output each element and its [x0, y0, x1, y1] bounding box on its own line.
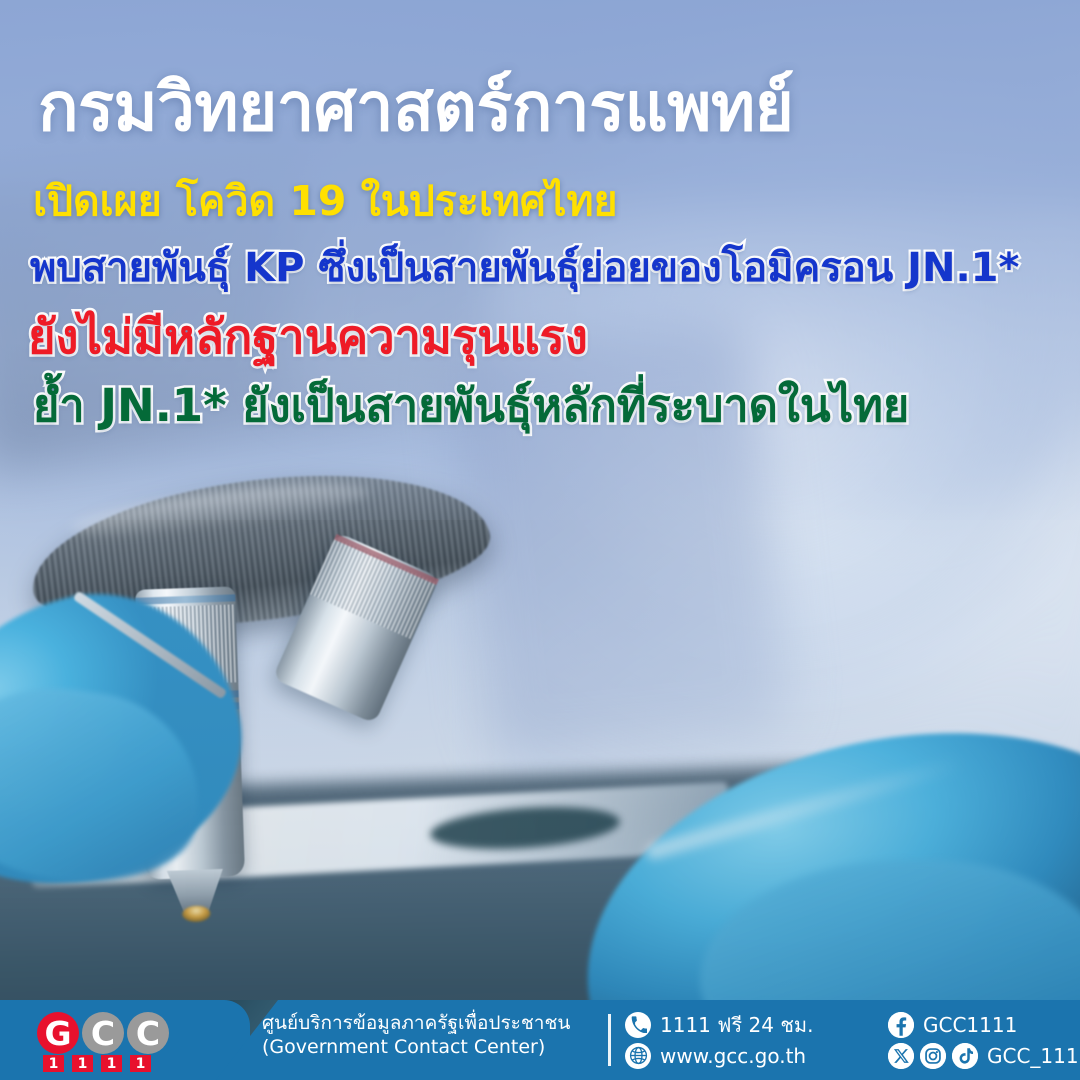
- footer-org-name-en: (Government Contact Center): [262, 1035, 592, 1059]
- footer-org-name: ศูนย์บริการข้อมูลภาครัฐเพื่อประชาชน (Gov…: [262, 1011, 592, 1060]
- phone-icon: [625, 1012, 651, 1038]
- facebook-icon[interactable]: [888, 1012, 914, 1038]
- gcc-digit-1a: 1: [43, 1055, 64, 1072]
- footer-facebook-row[interactable]: GCC1111: [888, 1009, 1078, 1040]
- headline-block: กรมวิทยาศาสตร์การแพทย์ เปิดเผย โควิด 19 …: [0, 0, 1080, 428]
- footer-facebook-handle: GCC1111: [923, 1013, 1017, 1037]
- footer-social-handles-row[interactable]: GCC_1111: [888, 1040, 1078, 1071]
- headline-line-blue: พบสายพันธุ์ KP ซึ่งเป็นสายพันธุ์ย่อยของโ…: [30, 248, 1080, 288]
- gcc-digit-1b: 1: [72, 1055, 93, 1072]
- gcc-logo[interactable]: G C C 1 1 1 1: [37, 1012, 169, 1070]
- instagram-icon[interactable]: [920, 1043, 946, 1069]
- headline-line-yellow: เปิดเผย โควิด 19 ในประเทศไทย: [33, 181, 1080, 222]
- globe-icon: [625, 1043, 651, 1069]
- footer-contact-column: 1111 ฟรี 24 ชม. www.gcc.go.th: [625, 1009, 835, 1071]
- footer-social-icons: [888, 1043, 978, 1069]
- gcc-logo-letters: G C C: [37, 1012, 169, 1054]
- gcc-digit-1d: 1: [130, 1055, 151, 1072]
- footer-phone-row[interactable]: 1111 ฟรี 24 ชม.: [625, 1009, 835, 1040]
- footer-social-column: GCC1111: [888, 1009, 1078, 1071]
- headline-line-red: ยังไม่มีหลักฐานความรุนแรง: [28, 314, 1080, 361]
- gcc-letter-c2: C: [127, 1012, 169, 1054]
- footer-social-handle: GCC_1111: [987, 1044, 1080, 1068]
- headline-line-green: ย้ำ JN.1* ยังเป็นสายพันธุ์หลักที่ระบาดใน…: [33, 383, 1080, 428]
- headline-title: กรมวิทยาศาสตร์การแพทย์: [38, 74, 1080, 145]
- gcc-logo-digits: 1 1 1 1: [43, 1055, 151, 1072]
- poster-canvas: 5 กรมวิทยาศาสตร์การแพทย์ เปิดเผย โควิด 1…: [0, 0, 1080, 1080]
- tiktok-icon[interactable]: [952, 1043, 978, 1069]
- footer-org-name-th: ศูนย์บริการข้อมูลภาครัฐเพื่อประชาชน: [262, 1011, 592, 1035]
- gcc-letter-c1: C: [82, 1012, 124, 1054]
- footer-phone-text: 1111 ฟรี 24 ชม.: [660, 1009, 813, 1041]
- footer-website-text: www.gcc.go.th: [660, 1044, 806, 1068]
- footer-website-row[interactable]: www.gcc.go.th: [625, 1040, 835, 1071]
- x-icon[interactable]: [888, 1043, 914, 1069]
- footer-facebook-icons: [888, 1012, 914, 1038]
- gcc-digit-1c: 1: [101, 1055, 122, 1072]
- footer-vertical-divider: [608, 1014, 611, 1066]
- gcc-letter-g: G: [37, 1012, 79, 1054]
- footer-bar: G C C 1 1 1 1 ศูนย์บริการข้อมูลภาครัฐเพื…: [0, 1000, 1080, 1080]
